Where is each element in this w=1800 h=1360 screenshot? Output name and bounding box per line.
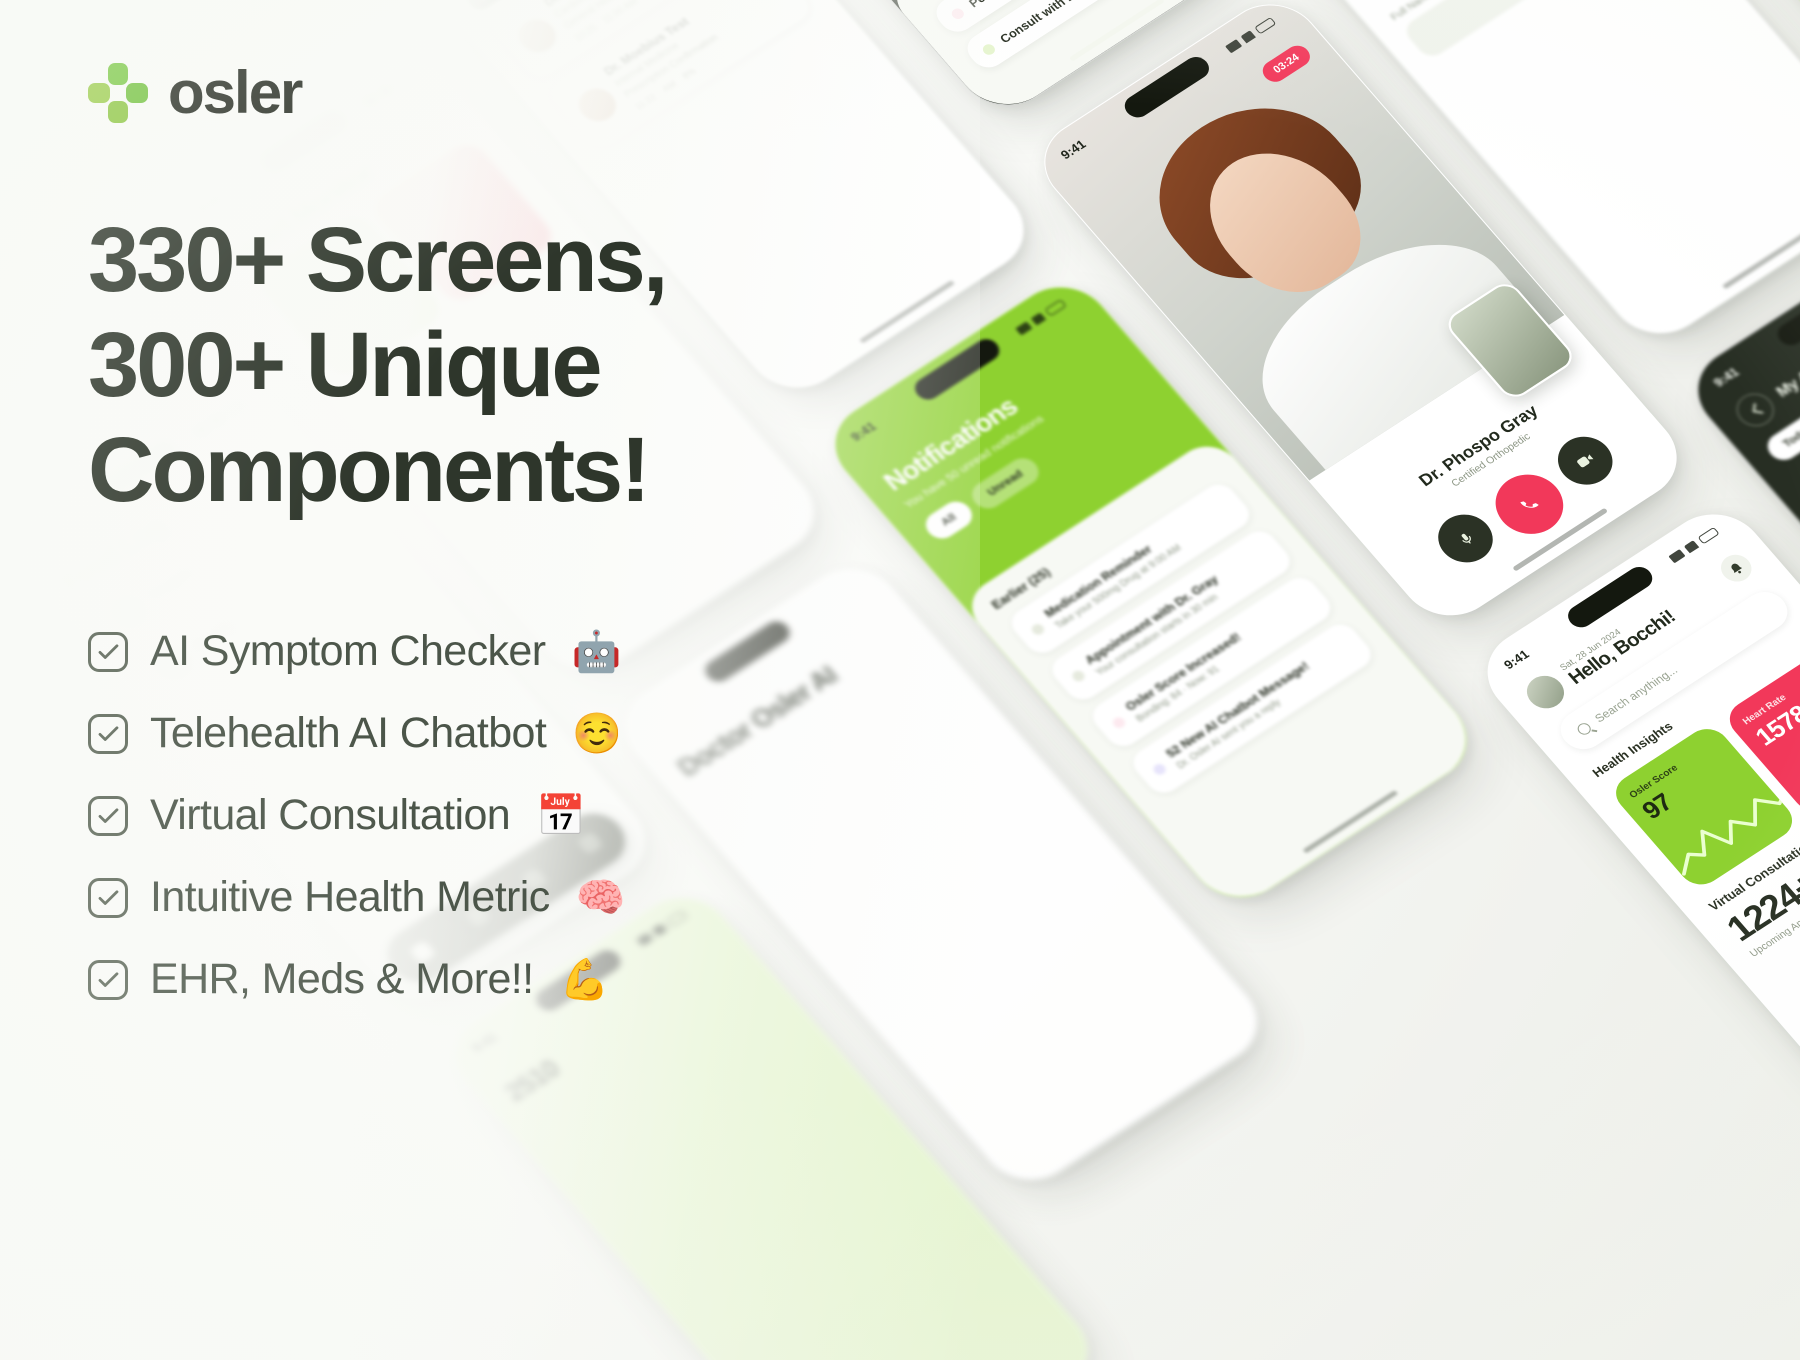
brain-icon: 🧠: [576, 878, 626, 918]
headline-line-1: 330+ Screens,: [88, 208, 788, 313]
mute-mic-button[interactable]: [1427, 505, 1504, 572]
doctor-icon: [980, 42, 997, 57]
back-button[interactable]: [1729, 387, 1781, 432]
calendar-icon: 📅: [536, 796, 586, 836]
feature-item-ehr-meds-more: EHR, Meds & More!! 💪: [88, 939, 840, 1021]
home-indicator: [1722, 226, 1800, 290]
plus-cross-logo-icon: [88, 63, 148, 123]
robot-icon: 🤖: [571, 632, 621, 672]
brand-name: osler: [168, 63, 301, 123]
smiling-face-icon: ☺️: [572, 714, 622, 754]
status-dot: [1029, 622, 1046, 637]
feature-item-intuitive-health-metric: Intuitive Health Metric 🧠: [88, 857, 840, 939]
wifi-icon: [1240, 30, 1255, 43]
check-square-icon: [88, 714, 128, 754]
end-call-button[interactable]: [1482, 463, 1577, 546]
feature-item-ai-symptom-checker: AI Symptom Checker 🤖: [88, 611, 840, 693]
check-square-icon: [88, 796, 128, 836]
feature-list: AI Symptom Checker 🤖 Telehealth AI Chatb…: [88, 611, 840, 1021]
feature-label: Virtual Consultation: [150, 791, 510, 840]
status-dot: [1070, 668, 1087, 683]
feature-item-telehealth-ai-chatbot: Telehealth AI Chatbot ☺️: [88, 693, 840, 775]
check-square-icon: [88, 960, 128, 1000]
headline-line-3: Components!: [88, 418, 788, 523]
toggle-camera-button[interactable]: [1547, 427, 1624, 494]
page-title: 330+ Screens, 300+ Unique Components!: [88, 208, 788, 523]
feature-label: Telehealth AI Chatbot: [150, 709, 546, 758]
feature-label: Intuitive Health Metric: [150, 873, 550, 922]
feature-item-virtual-consultation: Virtual Consultation 📅: [88, 775, 840, 857]
avatar[interactable]: [1519, 669, 1571, 714]
full-name-field[interactable]: [1401, 0, 1647, 61]
headline-line-2: 300+ Unique: [88, 313, 788, 418]
search-icon: [1575, 721, 1593, 737]
feature-label: EHR, Meds & More!!: [150, 955, 533, 1004]
check-square-icon: [88, 632, 128, 672]
phone-home: 9:41 Sat, 28 Jun 2024 Hello, Bocchi: [1467, 497, 1800, 1143]
notification-bell-icon[interactable]: [1715, 550, 1758, 587]
marketing-panel: osler 330+ Screens, 300+ Unique Componen…: [0, 0, 840, 1360]
search-placeholder: Search anything...: [1593, 664, 1680, 725]
promo-canvas: 9:41 Food Log Oxygen Weekly: [0, 0, 1800, 1360]
brand-logo[interactable]: osler: [88, 52, 840, 134]
check-square-icon: [88, 878, 128, 918]
feature-label: AI Symptom Checker: [150, 627, 545, 676]
flexed-biceps-icon: 💪: [559, 960, 609, 1000]
status-dot: [1110, 715, 1127, 730]
status-dot: [1151, 762, 1168, 777]
